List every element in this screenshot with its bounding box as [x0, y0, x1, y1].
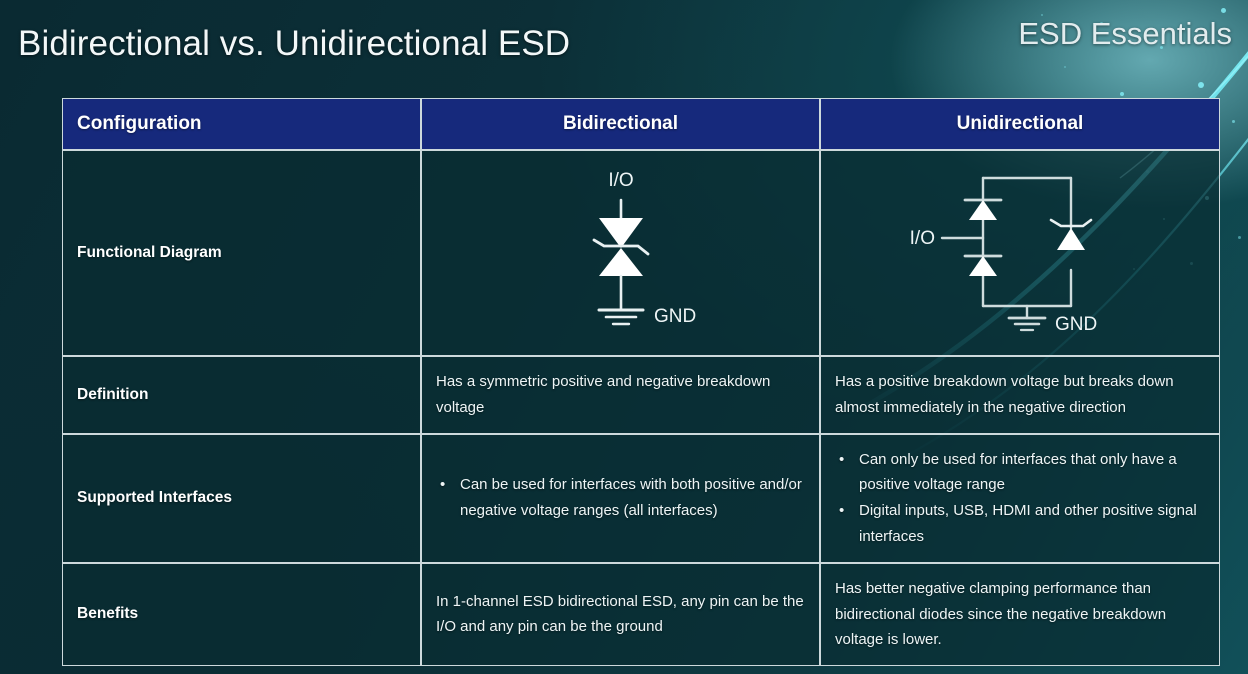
column-header-unidirectional: Unidirectional — [820, 98, 1220, 150]
bidirectional-diagram-cell: I/O GND — [421, 150, 820, 356]
benefits-unidirectional: Has better negative clamping performance… — [820, 563, 1220, 666]
row-label-supported-interfaces: Supported Interfaces — [62, 434, 421, 563]
supported-interfaces-bidirectional: • Can be used for interfaces with both p… — [421, 434, 820, 563]
definition-unidirectional: Has a positive breakdown voltage but bre… — [820, 356, 1220, 434]
bidirectional-tvs-diode-icon: I/O GND — [526, 158, 716, 348]
io-label: I/O — [608, 170, 633, 191]
star-particle — [1221, 8, 1226, 13]
list-item: • Can only be used for interfaces that o… — [835, 447, 1205, 499]
definition-bidirectional: Has a symmetric positive and negative br… — [421, 356, 820, 434]
table-row: Supported Interfaces • Can be used for i… — [62, 434, 1220, 563]
list-item-text: Can be used for interfaces with both pos… — [460, 476, 802, 519]
table-row: Definition Has a symmetric positive and … — [62, 356, 1220, 434]
bullet-glyph: • — [839, 498, 844, 524]
bullet-glyph: • — [440, 472, 445, 498]
star-particle — [1064, 66, 1066, 68]
benefits-bidirectional: In 1-channel ESD bidirectional ESD, any … — [421, 563, 820, 666]
star-particle — [1232, 120, 1235, 123]
io-label: I/O — [910, 228, 935, 249]
column-header-configuration: Configuration — [62, 98, 421, 150]
row-label-definition: Definition — [62, 356, 421, 434]
star-particle — [1120, 92, 1124, 96]
list-item-text: Can only be used for interfaces that onl… — [859, 451, 1177, 494]
row-label-functional-diagram: Functional Diagram — [62, 150, 421, 356]
unidirectional-diagram-cell: I/O GND — [820, 150, 1220, 356]
supported-interfaces-unidirectional: • Can only be used for interfaces that o… — [820, 434, 1220, 563]
unidirectional-diode-array-icon: I/O GND — [895, 158, 1145, 348]
table-header-row: Configuration Bidirectional Unidirection… — [62, 98, 1220, 150]
comparison-table: Configuration Bidirectional Unidirection… — [62, 98, 1220, 666]
star-particle — [1238, 236, 1241, 239]
list-item-text: Digital inputs, USB, HDMI and other posi… — [859, 502, 1197, 545]
column-header-bidirectional: Bidirectional — [421, 98, 820, 150]
table-row: Functional Diagram — [62, 150, 1220, 356]
series-kicker: ESD Essentials — [1018, 16, 1232, 52]
table-row: Benefits In 1-channel ESD bidirectional … — [62, 563, 1220, 666]
bullet-glyph: • — [839, 447, 844, 473]
gnd-label: GND — [1055, 314, 1097, 335]
list-item: • Can be used for interfaces with both p… — [436, 472, 805, 524]
row-label-benefits: Benefits — [62, 563, 421, 666]
page-title: Bidirectional vs. Unidirectional ESD — [18, 24, 570, 64]
gnd-label: GND — [654, 306, 696, 327]
list-item: • Digital inputs, USB, HDMI and other po… — [835, 498, 1205, 550]
star-particle — [1198, 82, 1204, 88]
